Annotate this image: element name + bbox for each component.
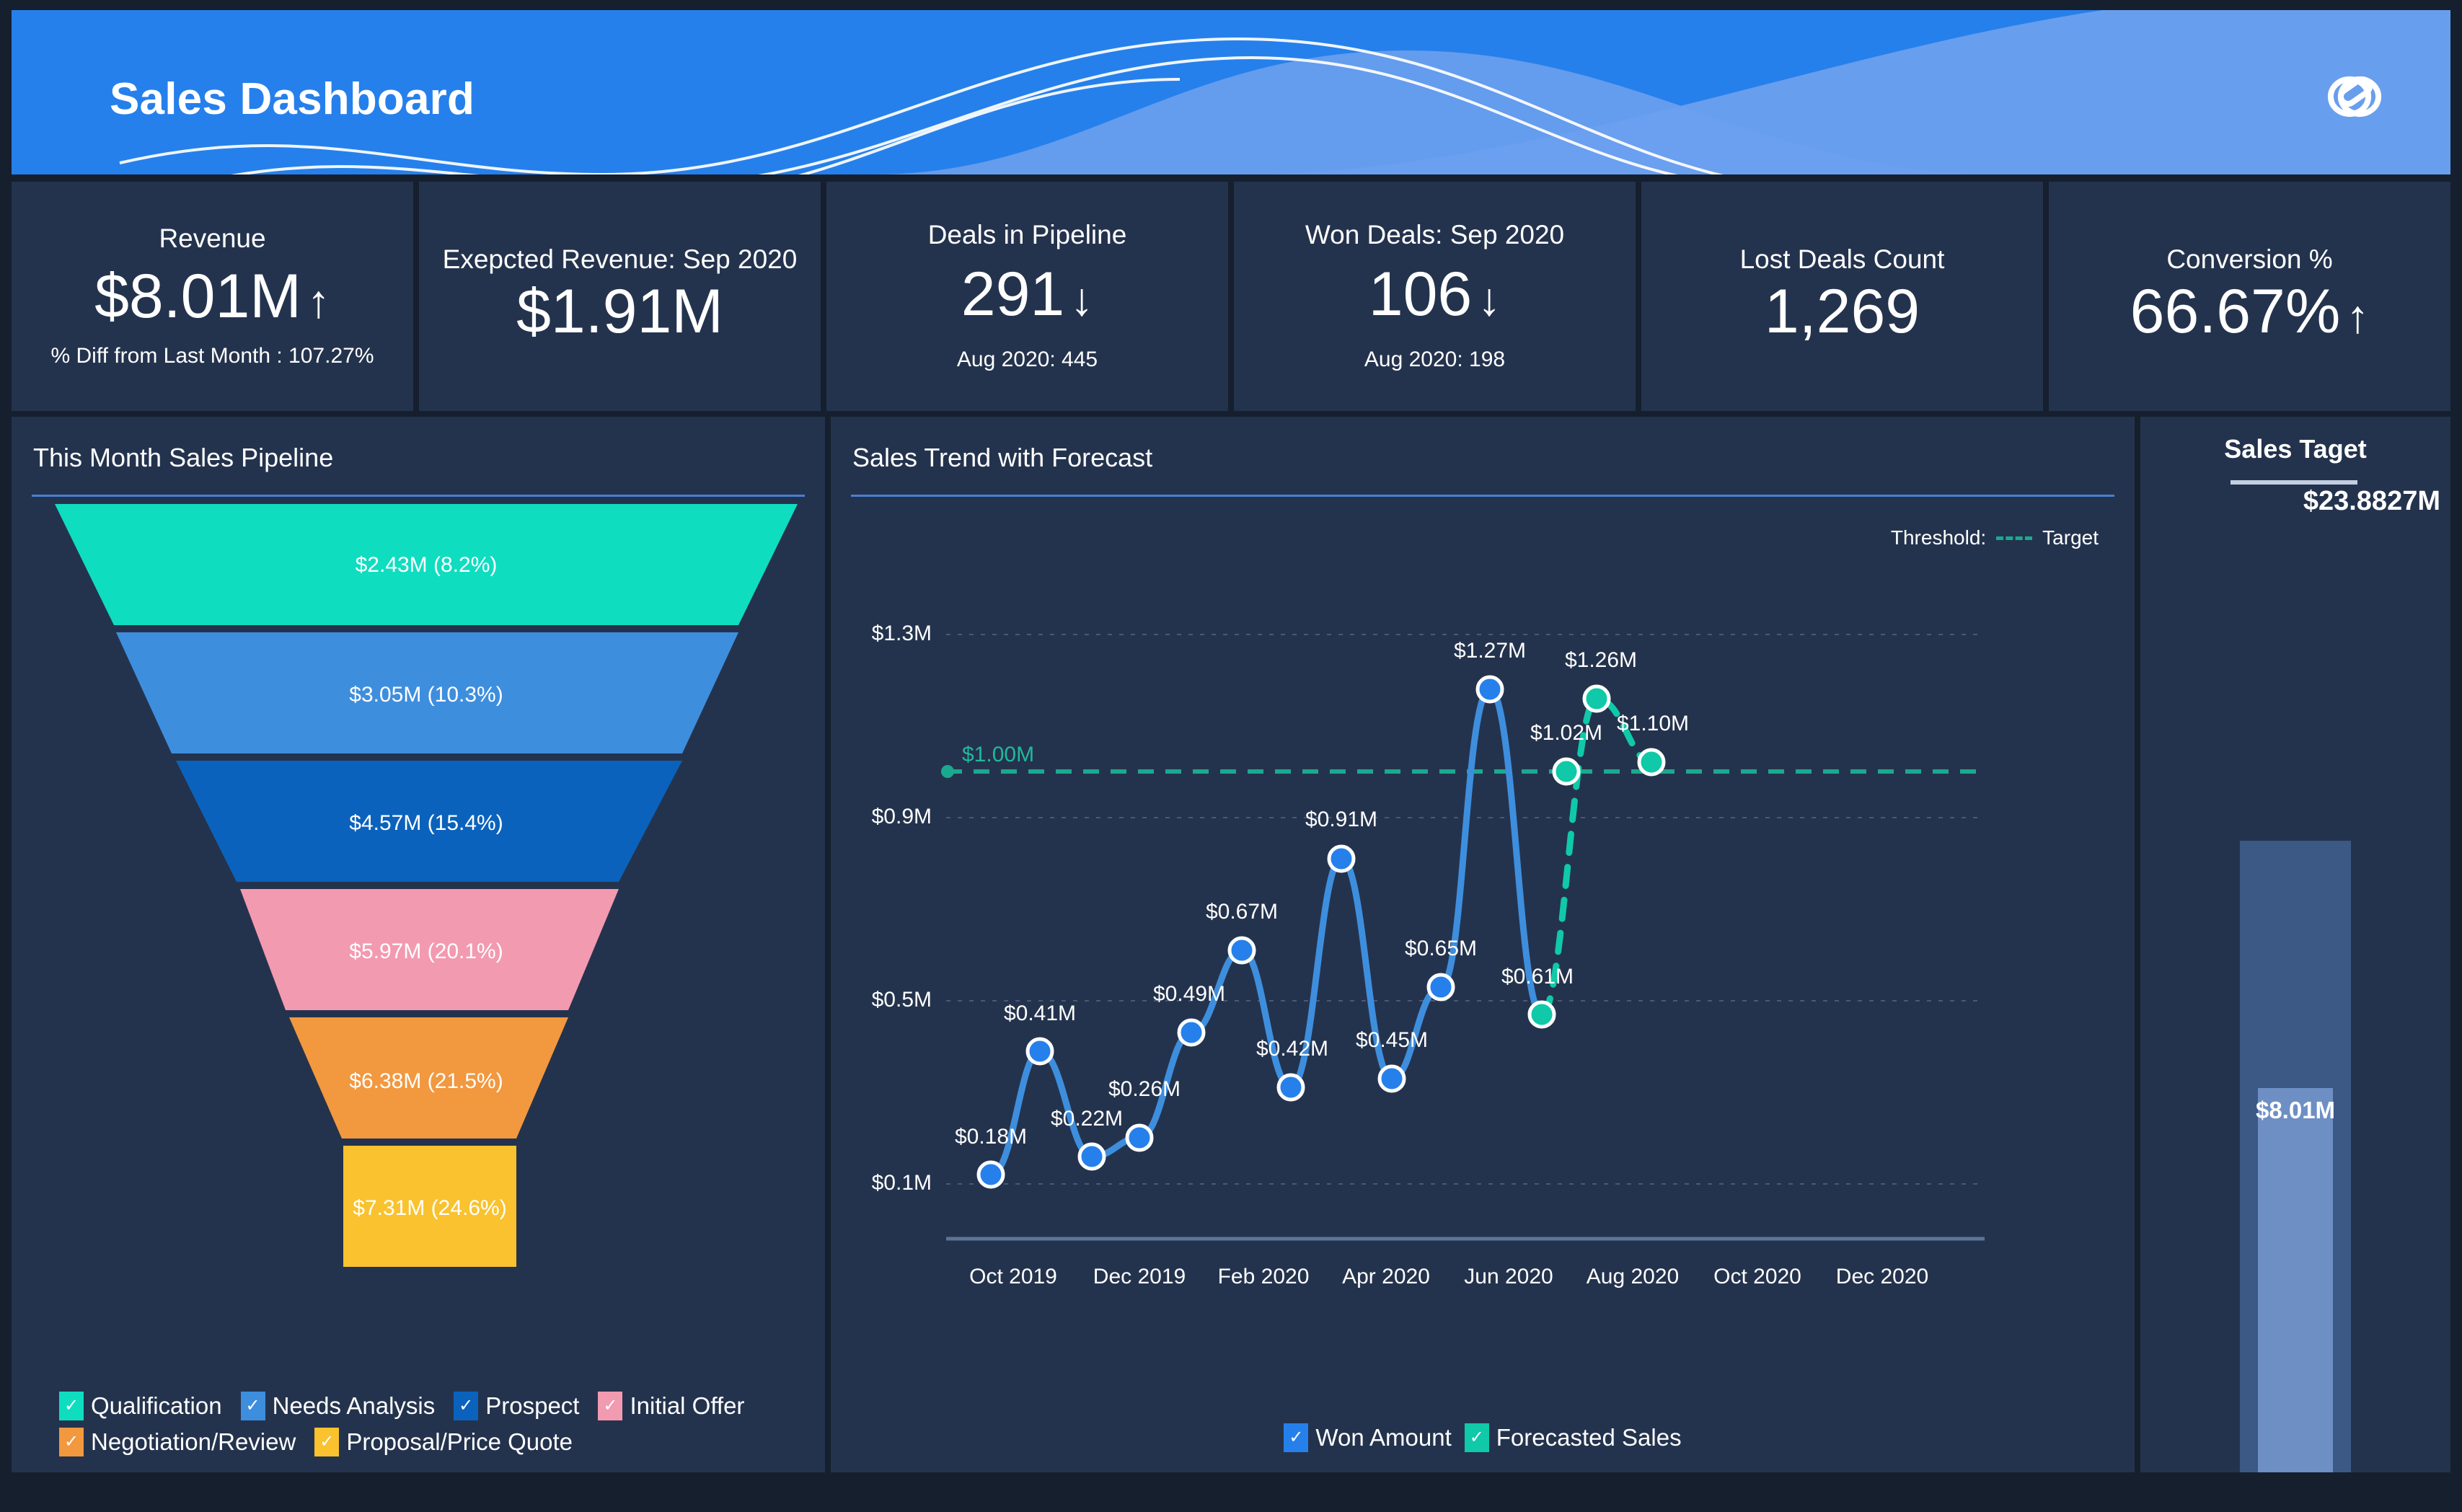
data-point[interactable] bbox=[1230, 938, 1254, 963]
x-axis-tick-label: Dec 2020 bbox=[1836, 1265, 1928, 1288]
checkbox-checked-icon[interactable]: ✓ bbox=[59, 1428, 84, 1456]
target-total-value: $23.8827M bbox=[2140, 485, 2450, 517]
legend-label: Won Amount bbox=[1315, 1424, 1451, 1451]
kpi-number: 1,269 bbox=[1765, 277, 1920, 346]
checkbox-checked-icon[interactable]: ✓ bbox=[314, 1428, 339, 1456]
funnel-segment-prospect[interactable]: $4.57M (15.4%) bbox=[176, 761, 682, 882]
x-axis-tick-label: Oct 2019 bbox=[969, 1265, 1057, 1288]
funnel-segment-label: $2.43M (8.2%) bbox=[356, 553, 498, 577]
y-axis-tick-label: $0.5M bbox=[872, 988, 932, 1012]
data-point-label: $0.61M bbox=[1501, 965, 1574, 989]
legend-label: Qualification bbox=[91, 1392, 222, 1420]
legend-item-qualification[interactable]: ✓ Qualification bbox=[59, 1392, 222, 1420]
target-panel-title: Sales Taget bbox=[2140, 417, 2450, 464]
legend-item-proposal-price-quote[interactable]: ✓ Proposal/Price Quote bbox=[314, 1428, 573, 1456]
trend-up-arrow-icon: ↑ bbox=[307, 275, 330, 327]
kpi-number: 106 bbox=[1369, 260, 1473, 329]
kpi-subtext: % Diff from Last Month : 107.27% bbox=[51, 343, 374, 369]
data-point-label: $0.42M bbox=[1256, 1037, 1328, 1061]
y-axis-tick-label: $0.1M bbox=[872, 1171, 932, 1195]
kpi-value: 291↓ bbox=[961, 258, 1094, 331]
data-point[interactable] bbox=[1179, 1020, 1204, 1045]
kpi-subtext: Aug 2020: 198 bbox=[1364, 347, 1505, 373]
target-gauge-fill[interactable] bbox=[2258, 1088, 2333, 1472]
data-point[interactable] bbox=[1080, 1144, 1104, 1169]
kpi-label: Exepcted Revenue: Sep 2020 bbox=[443, 244, 798, 275]
trend-chart-svg: $1.3M $0.9M $0.5M $0.1M $1.00M $0.18M bbox=[831, 554, 2042, 1412]
funnel-segment-label: $7.31M (24.6%) bbox=[353, 1196, 506, 1220]
threshold-series-label[interactable]: Target bbox=[2042, 526, 2099, 549]
data-point[interactable] bbox=[1279, 1075, 1303, 1100]
data-point-label: $0.91M bbox=[1305, 808, 1377, 831]
trend-down-arrow-icon: ↓ bbox=[1478, 273, 1501, 325]
data-point-label: $0.22M bbox=[1051, 1107, 1123, 1131]
data-point[interactable] bbox=[1127, 1126, 1152, 1150]
data-point[interactable] bbox=[1554, 759, 1579, 784]
data-point-label: $0.67M bbox=[1206, 900, 1278, 924]
x-axis-tick-label: Feb 2020 bbox=[1218, 1265, 1310, 1288]
data-point-label: $0.65M bbox=[1405, 937, 1477, 960]
kpi-card-revenue[interactable]: Revenue $8.01M↑ % Diff from Last Month :… bbox=[12, 182, 413, 411]
kpi-value: 66.67%↑ bbox=[2130, 275, 2370, 348]
series-line-won-amount bbox=[991, 689, 1542, 1175]
funnel-segment-proposal-price-quote[interactable]: $7.31M (24.6%) bbox=[343, 1146, 516, 1267]
y-axis-tick-label: $1.3M bbox=[872, 622, 932, 645]
page-title: Sales Dashboard bbox=[110, 74, 475, 125]
data-point-label: $0.18M bbox=[955, 1125, 1027, 1149]
dashed-line-sample-icon bbox=[1996, 536, 2032, 540]
data-point-label: $1.27M bbox=[1454, 639, 1526, 663]
funnel-segment-label: $4.57M (15.4%) bbox=[349, 811, 503, 835]
funnel-chart: $2.43M (8.2%) $3.05M (10.3%) $4.57M (15.… bbox=[12, 497, 825, 1276]
panel-sales-trend: Sales Trend with Forecast Threshold: Tar… bbox=[831, 417, 2135, 1472]
kpi-card-won-deals[interactable]: Won Deals: Sep 2020 106↓ Aug 2020: 198 bbox=[1234, 182, 1636, 411]
checkbox-checked-icon[interactable]: ✓ bbox=[1465, 1423, 1489, 1452]
dashboard-page: Sales Dashboard Revenue $8.01M↑ % Diff f… bbox=[0, 0, 2462, 1512]
threshold-value-label: $1.00M bbox=[962, 743, 1034, 766]
series-points-forecasted-sales: $1.02M $1.26M $1.10M bbox=[1530, 648, 1689, 784]
funnel-panel-title: This Month Sales Pipeline bbox=[12, 417, 825, 473]
funnel-segment-needs-analysis[interactable]: $3.05M (10.3%) bbox=[116, 632, 738, 753]
data-point[interactable] bbox=[1478, 677, 1502, 702]
kpi-number: 66.67% bbox=[2130, 277, 2341, 346]
legend-item-needs-analysis[interactable]: ✓ Needs Analysis bbox=[241, 1392, 436, 1420]
kpi-label: Conversion % bbox=[2166, 244, 2332, 275]
threshold-line: $1.00M bbox=[941, 743, 1985, 778]
legend-item-initial-offer[interactable]: ✓ Initial Offer bbox=[598, 1392, 744, 1420]
trend-legend: ✓ Won Amount ✓ Forecasted Sales bbox=[831, 1423, 2135, 1452]
zoho-logo-icon bbox=[2311, 61, 2397, 133]
data-point-label: $1.26M bbox=[1565, 648, 1637, 672]
legend-label: Needs Analysis bbox=[273, 1392, 436, 1420]
kpi-card-conversion-pct[interactable]: Conversion % 66.67%↑ bbox=[2049, 182, 2450, 411]
funnel-legend: ✓ Qualification ✓ Needs Analysis ✓ Prosp… bbox=[59, 1392, 811, 1456]
legend-label: Initial Offer bbox=[630, 1392, 744, 1420]
panel-sales-target: Sales Taget $23.8827M $8.01M bbox=[2140, 417, 2450, 1472]
legend-item-won-amount[interactable]: ✓ Won Amount bbox=[1284, 1423, 1451, 1452]
trend-panel-title: Sales Trend with Forecast bbox=[831, 417, 2135, 473]
kpi-value: $8.01M↑ bbox=[94, 260, 330, 333]
kpi-number: $8.01M bbox=[94, 262, 301, 331]
data-point[interactable] bbox=[1380, 1066, 1404, 1091]
data-point[interactable] bbox=[1639, 750, 1664, 774]
funnel-segment-initial-offer[interactable]: $5.97M (20.1%) bbox=[240, 889, 619, 1010]
kpi-label: Won Deals: Sep 2020 bbox=[1305, 220, 1564, 251]
legend-label: Negotiation/Review bbox=[91, 1428, 296, 1456]
data-point[interactable] bbox=[1028, 1039, 1052, 1064]
checkbox-checked-icon[interactable]: ✓ bbox=[454, 1392, 478, 1420]
kpi-label: Deals in Pipeline bbox=[928, 220, 1127, 251]
data-point[interactable] bbox=[1530, 1002, 1554, 1027]
data-point[interactable] bbox=[1429, 975, 1453, 999]
legend-item-negotiation-review[interactable]: ✓ Negotiation/Review bbox=[59, 1428, 296, 1456]
checkbox-checked-icon[interactable]: ✓ bbox=[59, 1392, 84, 1420]
funnel-segment-qualification[interactable]: $2.43M (8.2%) bbox=[55, 504, 798, 625]
kpi-card-lost-deals-count[interactable]: Lost Deals Count 1,269 bbox=[1641, 182, 2043, 411]
x-axis-tick-label: Apr 2020 bbox=[1342, 1265, 1430, 1288]
trend-down-arrow-icon: ↓ bbox=[1070, 273, 1093, 325]
x-axis-tick-label: Dec 2019 bbox=[1093, 1265, 1186, 1288]
kpi-card-expected-revenue[interactable]: Exepcted Revenue: Sep 2020 $1.91M bbox=[419, 182, 821, 411]
legend-label: Forecasted Sales bbox=[1496, 1424, 1682, 1451]
panel-sales-pipeline: This Month Sales Pipeline $2.43M (8.2%) … bbox=[12, 417, 825, 1472]
dashboard-header: Sales Dashboard bbox=[12, 10, 2450, 174]
gridlines bbox=[946, 635, 1985, 1184]
x-axis-tick-label: Aug 2020 bbox=[1587, 1265, 1679, 1288]
data-point[interactable] bbox=[979, 1162, 1003, 1187]
threshold-legend-label: Threshold: bbox=[1891, 526, 1986, 549]
target-gauge-track: $8.01M bbox=[2240, 841, 2351, 1472]
legend-item-forecasted-sales[interactable]: ✓ Forecasted Sales bbox=[1465, 1423, 1682, 1452]
legend-item-prospect[interactable]: ✓ Prospect bbox=[454, 1392, 579, 1420]
dashboard-body: This Month Sales Pipeline $2.43M (8.2%) … bbox=[12, 417, 2450, 1472]
data-point-label: $1.02M bbox=[1530, 721, 1602, 745]
kpi-number: 291 bbox=[961, 260, 1065, 329]
kpi-label: Lost Deals Count bbox=[1740, 244, 1945, 275]
data-point[interactable] bbox=[1584, 686, 1609, 711]
funnel-chart-svg: $2.43M (8.2%) $3.05M (10.3%) $4.57M (15.… bbox=[12, 497, 825, 1276]
funnel-segment-negotiation-review[interactable]: $6.38M (21.5%) bbox=[289, 1017, 568, 1139]
kpi-value: 1,269 bbox=[1765, 275, 1920, 348]
kpi-number: $1.91M bbox=[516, 277, 723, 346]
data-point-label: $0.49M bbox=[1153, 982, 1225, 1006]
trend-up-arrow-icon: ↑ bbox=[2346, 291, 2369, 342]
data-point[interactable] bbox=[1329, 846, 1354, 871]
y-axis-tick-label: $0.9M bbox=[872, 805, 932, 828]
target-achieved-label: $8.01M bbox=[2256, 1097, 2335, 1124]
kpi-value: 106↓ bbox=[1369, 258, 1501, 331]
kpi-row: Revenue $8.01M↑ % Diff from Last Month :… bbox=[12, 182, 2450, 411]
data-point-label: $1.10M bbox=[1617, 712, 1689, 735]
data-point-label: $0.45M bbox=[1356, 1028, 1428, 1052]
checkbox-checked-icon[interactable]: ✓ bbox=[598, 1392, 622, 1420]
funnel-segment-label: $3.05M (10.3%) bbox=[349, 683, 503, 707]
funnel-segment-label: $5.97M (20.1%) bbox=[349, 940, 503, 963]
kpi-value: $1.91M bbox=[516, 275, 723, 348]
funnel-segment-label: $6.38M (21.5%) bbox=[349, 1069, 503, 1093]
kpi-card-deals-in-pipeline[interactable]: Deals in Pipeline 291↓ Aug 2020: 445 bbox=[826, 182, 1228, 411]
legend-label: Prospect bbox=[485, 1392, 579, 1420]
x-axis-tick-label: Jun 2020 bbox=[1464, 1265, 1553, 1288]
checkbox-checked-icon[interactable]: ✓ bbox=[1284, 1423, 1308, 1452]
data-point-label: $0.26M bbox=[1108, 1077, 1181, 1101]
panel-divider bbox=[851, 495, 2114, 497]
data-point-label: $0.41M bbox=[1004, 1002, 1076, 1025]
legend-label: Proposal/Price Quote bbox=[346, 1428, 573, 1456]
threshold-legend: Threshold: Target bbox=[1891, 526, 2099, 549]
kpi-label: Revenue bbox=[159, 224, 265, 255]
checkbox-checked-icon[interactable]: ✓ bbox=[241, 1392, 265, 1420]
x-axis-tick-label: Oct 2020 bbox=[1713, 1265, 1801, 1288]
kpi-subtext: Aug 2020: 445 bbox=[957, 347, 1098, 373]
